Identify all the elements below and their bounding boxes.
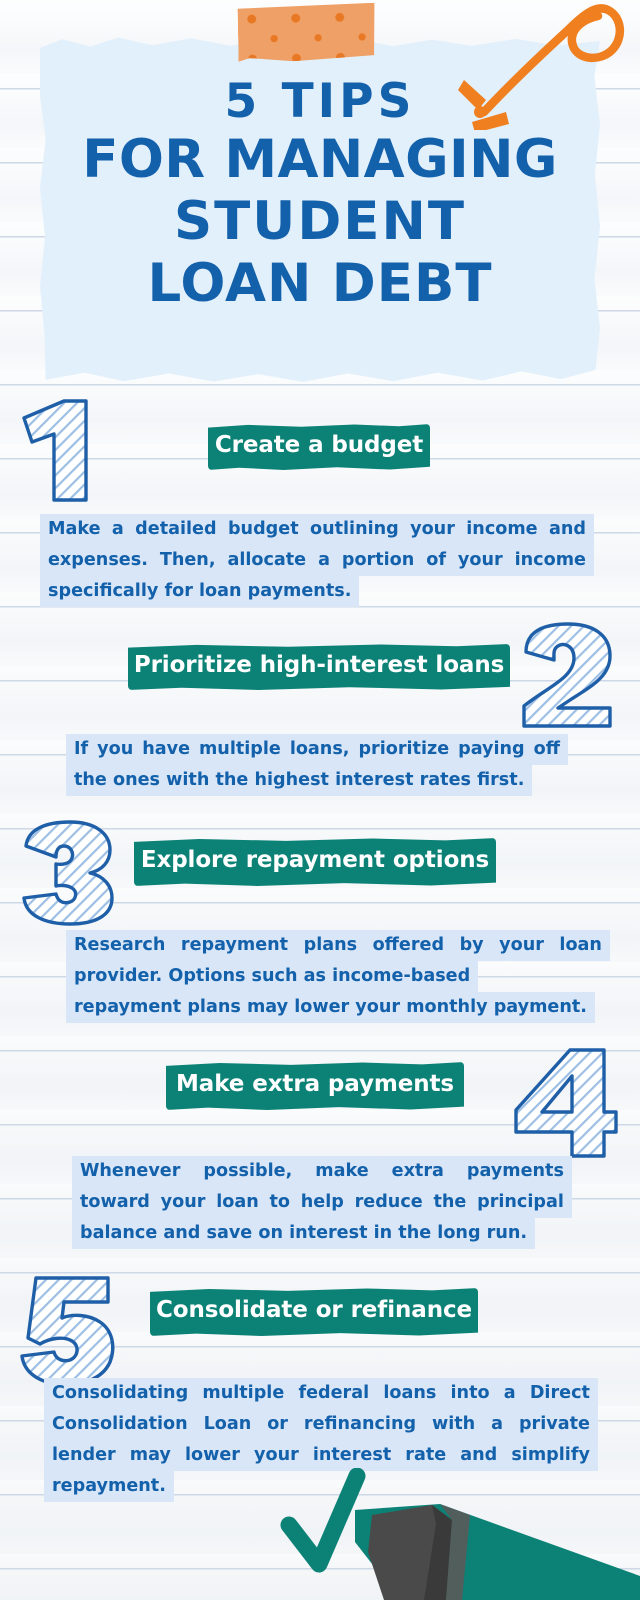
word: loan <box>216 1187 259 1218</box>
infographic-page: 5 TIPS FOR MANAGING STUDENT LOAN DEBT <box>0 0 640 1600</box>
word: Loan <box>204 1409 252 1440</box>
word: you <box>97 734 133 765</box>
tip-2-heading-badge: Prioritize high-interest loans <box>128 644 510 690</box>
word: prioritize <box>358 734 449 765</box>
tip-1-heading: Create a budget <box>215 432 423 458</box>
word: Make <box>48 514 101 545</box>
word: Consolidating <box>52 1378 188 1409</box>
word: payments <box>467 1156 564 1187</box>
word: allocate <box>227 545 306 576</box>
word: and <box>460 1440 497 1471</box>
word: may <box>130 1440 171 1471</box>
word: your <box>458 545 503 576</box>
checkmark-icon <box>289 1476 357 1564</box>
word: toward <box>80 1187 150 1218</box>
word: your <box>410 514 455 545</box>
word: your <box>254 1440 299 1471</box>
tip-1-body-line-2: expenses.Then,allocateaportionofyourinco… <box>48 545 586 576</box>
word: income <box>515 545 586 576</box>
word: a <box>504 1378 516 1409</box>
tip-numeral-5 <box>14 1272 122 1388</box>
tip-1-heading-badge: Create a budget <box>208 424 430 470</box>
word: a <box>318 545 330 576</box>
tip-2-body-line-2: the ones with the highest interest rates… <box>74 765 524 796</box>
word: expenses. <box>48 545 148 576</box>
word: outlining <box>310 514 399 545</box>
word: help <box>301 1187 344 1218</box>
word: Whenever <box>80 1156 180 1187</box>
word: your <box>499 930 544 961</box>
word: possible, <box>203 1156 292 1187</box>
title-line-4: LOAN DEBT <box>147 257 492 311</box>
word: refinancing <box>304 1409 416 1440</box>
title-line-1: 5 TIPS <box>225 78 416 126</box>
tip-4-body-line-3: balance and save on interest in the long… <box>80 1218 527 1249</box>
tip-3-body-line-1: Researchrepaymentplansofferedbyyourloan <box>74 930 602 961</box>
title-line-2: FOR MANAGING <box>82 133 558 187</box>
word: lower <box>185 1440 240 1471</box>
tip-numeral-4 <box>508 1044 620 1160</box>
word: multiple <box>199 734 281 765</box>
word: off <box>534 734 560 765</box>
word: lender <box>52 1440 116 1471</box>
tip-1-body-line-3: specifically for loan payments. <box>48 576 351 607</box>
word: rate <box>405 1440 446 1471</box>
tip-5-body-line-3: lendermayloweryourinterestrateandsimplif… <box>52 1440 590 1471</box>
word: with <box>432 1409 475 1440</box>
tip-4-heading: Make extra payments <box>176 1071 454 1097</box>
word: Consolidation <box>52 1409 188 1440</box>
tip-5-heading: Consolidate or refinance <box>156 1297 472 1323</box>
word: multiple <box>202 1378 284 1409</box>
word: Direct <box>530 1378 590 1409</box>
tip-4-body: Wheneverpossible,makeextrapayments towar… <box>80 1156 564 1249</box>
word: make <box>315 1156 368 1187</box>
word: If <box>74 734 88 765</box>
tip-3-body-line-3: repayment plans may lower your monthly p… <box>74 992 587 1023</box>
word: Then, <box>160 545 216 576</box>
word: repayment <box>181 930 288 961</box>
tip-2-body-line-1: Ifyouhavemultipleloans,prioritizepayingo… <box>74 734 560 765</box>
word: detailed <box>135 514 216 545</box>
tip-3-body: Researchrepaymentplansofferedbyyourloan … <box>74 930 602 1023</box>
washi-tape-decoration <box>237 3 375 63</box>
tip-numeral-2 <box>512 620 624 730</box>
word: principal <box>477 1187 564 1218</box>
title-line-3: STUDENT <box>174 195 466 249</box>
highlighter-pen-illustration <box>0 1468 640 1600</box>
word: loans, <box>290 734 350 765</box>
tip-3-heading: Explore repayment options <box>141 847 489 873</box>
word: reduce <box>355 1187 423 1218</box>
tip-3-heading-badge: Explore repayment options <box>134 838 496 886</box>
tip-3-body-line-2: provider. Options such as income-based <box>74 961 470 992</box>
word: paying <box>458 734 525 765</box>
tip-5-body-line-2: ConsolidationLoanorrefinancingwithapriva… <box>52 1409 590 1440</box>
word: the <box>433 1187 466 1218</box>
word: portion <box>342 545 414 576</box>
tip-4-body-line-2: towardyourloantohelpreducetheprincipal <box>80 1187 564 1218</box>
word: simplify <box>511 1440 590 1471</box>
word: loans <box>383 1378 436 1409</box>
word: extra <box>392 1156 444 1187</box>
word: or <box>267 1409 288 1440</box>
tip-4-body-line-1: Wheneverpossible,makeextrapayments <box>80 1156 564 1187</box>
word: a <box>112 514 124 545</box>
word: have <box>142 734 190 765</box>
word: private <box>519 1409 590 1440</box>
tip-numeral-1 <box>6 396 110 506</box>
word: offered <box>373 930 444 961</box>
tape-dots-pattern <box>237 3 375 63</box>
word: by <box>460 930 484 961</box>
word: your <box>161 1187 206 1218</box>
curly-arrow-icon <box>452 0 640 130</box>
tip-2-body: Ifyouhavemultipleloans,prioritizepayingo… <box>74 734 560 796</box>
tip-5-body-line-1: ConsolidatingmultiplefederalloansintoaDi… <box>52 1378 590 1409</box>
word: federal <box>298 1378 369 1409</box>
word: a <box>491 1409 503 1440</box>
word: to <box>269 1187 290 1218</box>
word: Research <box>74 930 165 961</box>
tip-5-heading-badge: Consolidate or refinance <box>150 1288 478 1336</box>
word: of <box>426 545 446 576</box>
tip-2-heading: Prioritize high-interest loans <box>134 652 504 678</box>
tip-1-body-line-1: Makeadetailedbudgetoutliningyourincomean… <box>48 514 586 545</box>
tip-4-heading-badge: Make extra payments <box>166 1062 464 1110</box>
word: and <box>549 514 586 545</box>
word: interest <box>313 1440 391 1471</box>
word: plans <box>304 930 358 961</box>
word: loan <box>559 930 602 961</box>
word: into <box>451 1378 490 1409</box>
tip-1-body: Makeadetailedbudgetoutliningyourincomean… <box>48 514 586 607</box>
word: budget <box>228 514 299 545</box>
word: income <box>466 514 537 545</box>
tip-numeral-3 <box>12 818 124 928</box>
